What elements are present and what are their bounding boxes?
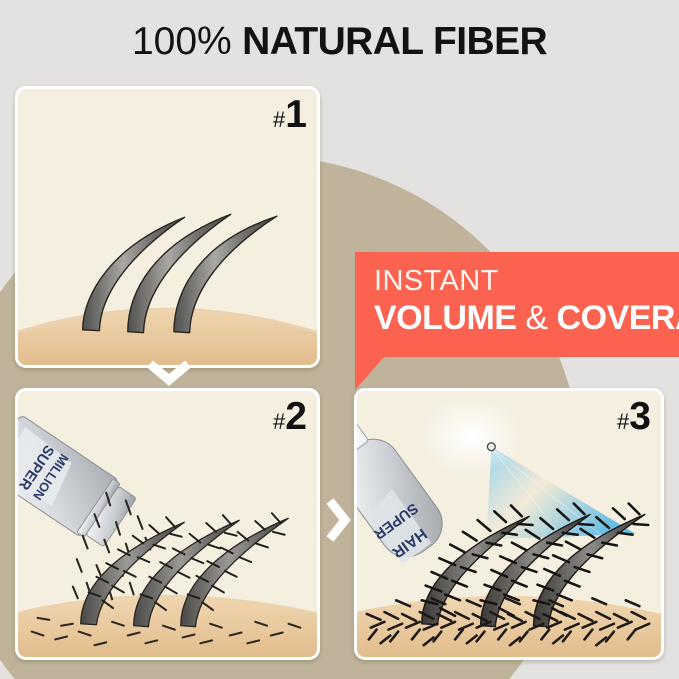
step-index: 3 [629,395,650,438]
infographic-canvas: 100% NATURAL FIBER #1 [0,0,679,679]
page-title: 100% NATURAL FIBER [0,20,679,64]
step-panel-1: #1 [15,86,320,368]
step-number-1: #1 [273,93,306,137]
callout-line-1: INSTANT [374,266,499,297]
hash-symbol: # [617,409,629,434]
arrow-down-icon [147,360,191,386]
step-number-2: #2 [273,395,306,439]
title-main: NATURAL FIBER [242,20,547,63]
panel-3-artwork: SUPER HAIR [357,391,661,657]
callout-volume: VOLUME [374,299,516,337]
callout-banner: INSTANT VOLUME & COVERAGE [355,252,679,357]
callout-line-2: VOLUME & COVERAGE [374,299,679,337]
step-panel-2: #2 [15,388,320,660]
arrow-right-icon [325,498,351,542]
hash-symbol: # [273,107,285,132]
callout-ampersand: & [525,299,547,337]
step-number-3: #3 [617,395,650,439]
step-index: 1 [285,93,306,136]
step-index: 2 [285,395,306,438]
callout-tail [355,356,395,396]
step-panel-3: #3 [354,388,664,660]
title-percent: 100% [132,20,232,63]
callout-coverage: COVERAGE [557,299,679,337]
hash-symbol: # [273,409,285,434]
